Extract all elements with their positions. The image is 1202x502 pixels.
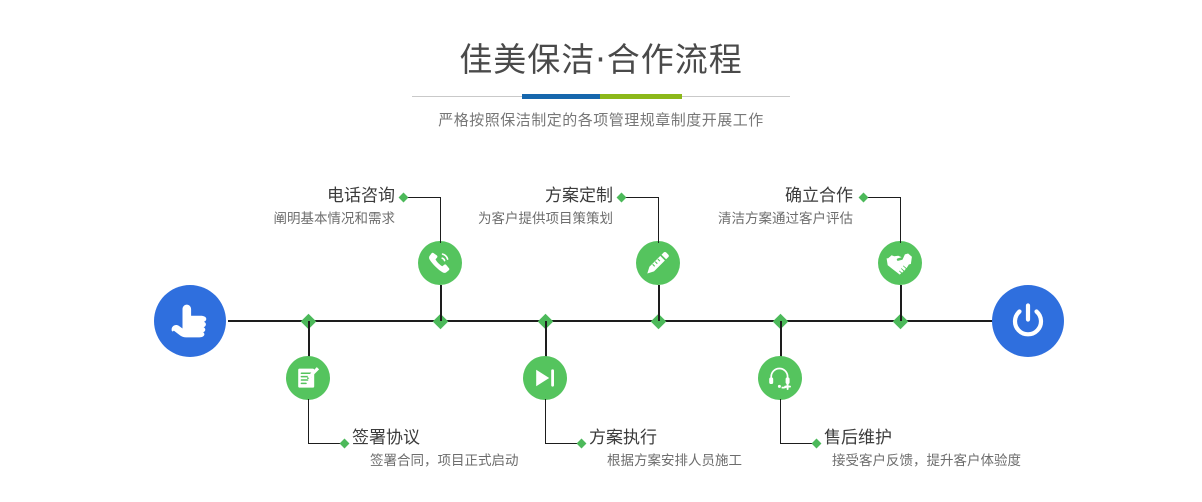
process-timeline: 电话咨询 阐明基本情况和需求 方案定制 为客户提供项目策策划 确立合作 清洁方案…	[0, 0, 1202, 502]
timeline-axis	[228, 320, 1000, 322]
step-label-6: 售后维护 接受客户反馈，提升客户体验度	[824, 426, 1104, 472]
stem-step-2	[308, 321, 310, 357]
step-desc-6: 接受客户反馈，提升客户体验度	[832, 450, 1104, 472]
step-desc-5: 清洁方案通过客户评估	[615, 208, 853, 230]
stem-step-4	[545, 321, 547, 357]
timeline-start-endpoint[interactable]	[154, 285, 226, 357]
handshake-icon	[886, 250, 914, 276]
connector-v-step-5	[900, 197, 901, 243]
step-title-5: 确立合作	[615, 184, 853, 208]
step-icon-2[interactable]	[286, 356, 330, 400]
flow-diagram-page: 佳美保洁·合作流程 严格按照保洁制定的各项管理规章制度开展工作	[0, 0, 1202, 502]
step-title-3: 方案定制	[375, 184, 613, 208]
step-label-1: 电话咨询 阐明基本情况和需求	[155, 184, 395, 230]
customer-service-add-icon	[767, 365, 793, 391]
step-title-6: 售后维护	[824, 426, 1104, 450]
stem-step-3	[658, 285, 660, 321]
step-label-5: 确立合作 清洁方案通过客户评估	[615, 184, 853, 230]
step-title-1: 电话咨询	[155, 184, 395, 208]
step-desc-4: 根据方案安排人员施工	[607, 450, 849, 472]
step-icon-6[interactable]	[758, 356, 802, 400]
step-icon-5[interactable]	[878, 241, 922, 285]
play-skip-icon	[532, 365, 558, 391]
step-desc-1: 阐明基本情况和需求	[155, 208, 395, 230]
pencil-ruler-icon	[645, 250, 671, 276]
step-label-3: 方案定制 为客户提供项目策策划	[375, 184, 613, 230]
connector-h-step-5	[864, 197, 900, 198]
step-desc-2: 签署合同，项目正式启动	[370, 450, 612, 472]
timeline-end-endpoint[interactable]	[992, 285, 1064, 357]
step-label-2: 签署协议 签署合同，项目正式启动	[352, 426, 612, 472]
step-title-2: 签署协议	[352, 426, 612, 450]
connector-v-step-2	[308, 399, 309, 444]
stem-step-6	[780, 321, 782, 357]
stem-step-1	[440, 285, 442, 321]
connector-v-step-6	[780, 399, 781, 444]
step-title-4: 方案执行	[589, 426, 849, 450]
connector-dot-step-5	[859, 193, 869, 203]
connector-dot-step-2	[340, 439, 350, 449]
step-icon-3[interactable]	[636, 241, 680, 285]
document-edit-icon	[295, 365, 321, 391]
step-icon-1[interactable]	[418, 241, 462, 285]
connector-v-step-4	[545, 399, 546, 444]
step-icon-4[interactable]	[523, 356, 567, 400]
pointing-hand-icon	[169, 304, 211, 338]
step-label-4: 方案执行 根据方案安排人员施工	[589, 426, 849, 472]
step-desc-3: 为客户提供项目策策划	[375, 208, 613, 230]
power-icon	[1008, 301, 1048, 341]
stem-step-5	[900, 285, 902, 321]
phone-call-icon	[427, 250, 453, 276]
